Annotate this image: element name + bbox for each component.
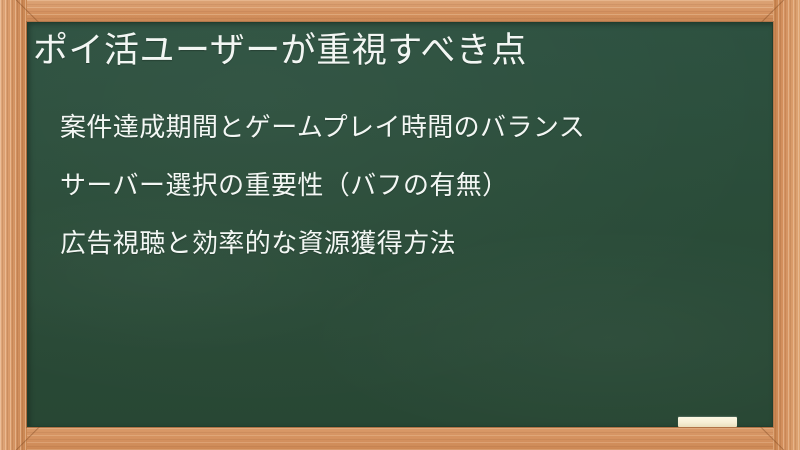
blackboard-content: ポイ活ユーザーが重視すべき点 案件達成期間とゲームプレイ時間のバランス サーバー… xyxy=(27,22,773,427)
frame-rail-bottom xyxy=(0,427,800,450)
bullet-list: 案件達成期間とゲームプレイ時間のバランス サーバー選択の重要性（バフの有無） 広… xyxy=(60,114,763,288)
frame-rail-right xyxy=(773,0,800,450)
page-title: ポイ活ユーザーが重視すべき点 xyxy=(33,32,527,71)
list-item: サーバー選択の重要性（バフの有無） xyxy=(60,172,763,201)
list-item: 広告視聴と効率的な資源獲得方法 xyxy=(60,230,763,259)
chalk-stick-icon xyxy=(678,417,737,427)
frame-rail-left xyxy=(0,0,27,450)
frame-rail-top xyxy=(0,0,800,22)
list-item: 案件達成期間とゲームプレイ時間のバランス xyxy=(60,114,763,143)
slide-canvas: ポイ活ユーザーが重視すべき点 案件達成期間とゲームプレイ時間のバランス サーバー… xyxy=(0,0,800,450)
blackboard-surface: ポイ活ユーザーが重視すべき点 案件達成期間とゲームプレイ時間のバランス サーバー… xyxy=(27,22,773,427)
